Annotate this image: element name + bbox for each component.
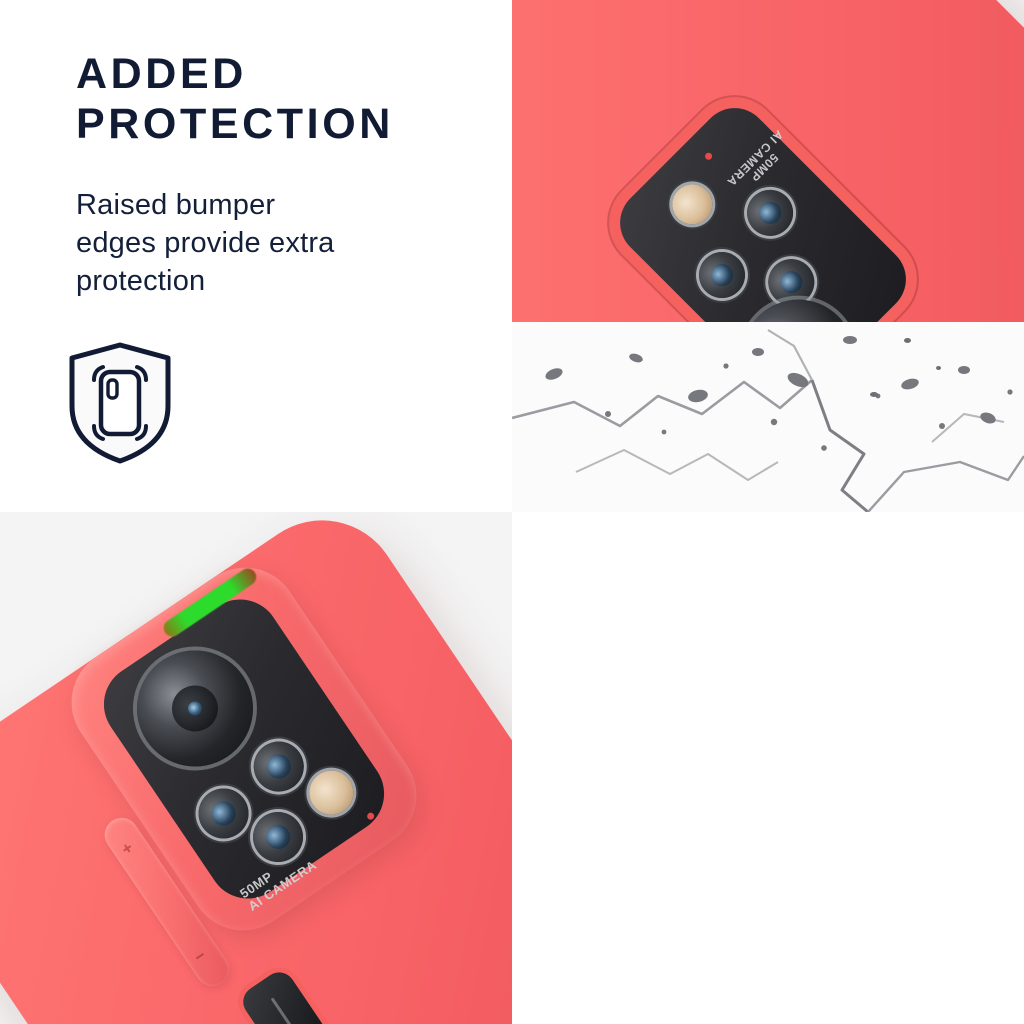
- camera-lens-secondary: [689, 243, 754, 308]
- shield-phone-icon: [64, 340, 176, 466]
- volume-down-label: −: [191, 946, 210, 968]
- camera-lens-secondary: [189, 779, 258, 848]
- debris-speck: [904, 338, 911, 343]
- cracked-surface: [512, 322, 1024, 512]
- added-protection-body: Raised bumper edges provide extra protec…: [76, 186, 394, 301]
- case-impact-photo: 50MP AI CAMERA: [512, 0, 1024, 512]
- added-protection-heading: ADDED PROTECTION: [76, 50, 394, 150]
- debris-speck: [870, 392, 878, 397]
- infographic-grid: ADDED PROTECTION Raised bumper edges pro…: [0, 0, 1024, 1024]
- panel-added-protection: ADDED PROTECTION Raised bumper edges pro…: [0, 0, 512, 512]
- panel-protects-camera: PROTECTS CAMERA Raised edges protect cam…: [512, 512, 1024, 1024]
- case-angle-photo: 50MP AI CAMERA + −: [0, 512, 512, 1024]
- camera-flash: [301, 762, 362, 823]
- camera-lens-tertiary: [244, 732, 313, 801]
- led-indicator: [704, 151, 714, 161]
- camera-spec-label: 50MP AI CAMERA: [722, 125, 796, 199]
- camera-flash: [664, 176, 721, 233]
- debris-speck: [936, 366, 941, 370]
- led-indicator: [366, 811, 376, 821]
- volume-up-label: +: [118, 838, 137, 860]
- added-protection-text-block: ADDED PROTECTION Raised bumper edges pro…: [76, 50, 394, 301]
